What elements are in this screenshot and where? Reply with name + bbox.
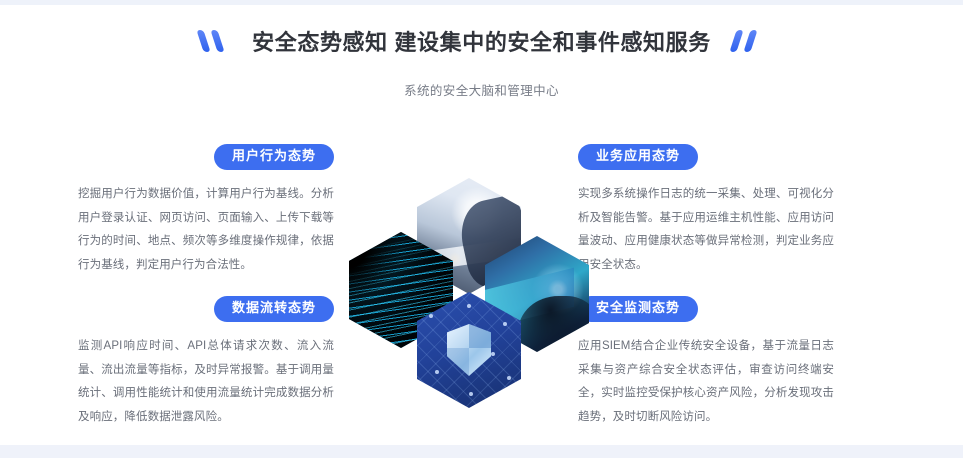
page-title: 安全态势感知 建设集中的安全和事件感知服务	[252, 25, 711, 57]
badge-wrap: 安全监测态势	[578, 296, 834, 322]
description-data-flow: 监测API响应时间、API总体请求次数、流入流量、流出流量等指标，及时异常报警。…	[78, 335, 334, 429]
badge-user-behavior[interactable]: 用户行为态势	[214, 144, 334, 170]
title-row: 安全态势感知 建设集中的安全和事件感知服务	[0, 24, 963, 58]
description-security-monitoring: 应用SIEM结合企业传统安全设备，基于流量日志采集与资产综合安全状态评估，审查访…	[578, 335, 834, 429]
badge-business-application[interactable]: 业务应用态势	[578, 144, 698, 170]
double-slash-left-icon	[198, 28, 232, 54]
top-edge-band	[0, 0, 963, 5]
badge-wrap: 业务应用态势	[578, 144, 834, 170]
hexagon-cluster	[345, 178, 590, 398]
badge-security-monitoring[interactable]: 安全监测态势	[578, 296, 698, 322]
card-business-application: 业务应用态势 实现多系统操作日志的统一采集、处理、可视化分析及智能告警。基于应用…	[578, 144, 834, 277]
shield-icon	[447, 324, 491, 376]
card-security-monitoring: 安全监测态势 应用SIEM结合企业传统安全设备，基于流量日志采集与资产综合安全状…	[578, 296, 834, 429]
description-business-application: 实现多系统操作日志的统一采集、处理、可视化分析及智能告警。基于应用运维主机性能、…	[578, 183, 834, 277]
badge-wrap: 用户行为态势	[78, 144, 334, 170]
description-user-behavior: 挖掘用户行为数据价值，计算用户行为基线。分析用户登录认证、网页访问、页面输入、上…	[78, 183, 334, 277]
double-slash-right-icon	[731, 28, 765, 54]
bottom-edge-band	[0, 445, 963, 458]
card-data-flow: 数据流转态势 监测API响应时间、API总体请求次数、流入流量、流出流量等指标，…	[78, 296, 334, 429]
page-subtitle: 系统的安全大脑和管理中心	[0, 80, 963, 99]
badge-wrap: 数据流转态势	[78, 296, 334, 322]
badge-data-flow[interactable]: 数据流转态势	[214, 296, 334, 322]
header: 安全态势感知 建设集中的安全和事件感知服务 系统的安全大脑和管理中心	[0, 24, 963, 99]
page-root: 安全态势感知 建设集中的安全和事件感知服务 系统的安全大脑和管理中心 用户行为态…	[0, 0, 963, 458]
card-user-behavior: 用户行为态势 挖掘用户行为数据价值，计算用户行为基线。分析用户登录认证、网页访问…	[78, 144, 334, 277]
